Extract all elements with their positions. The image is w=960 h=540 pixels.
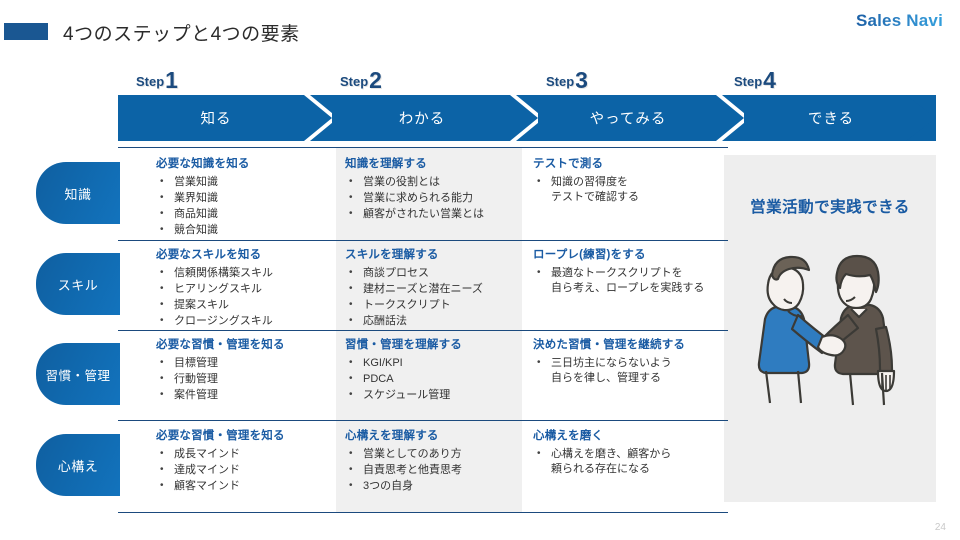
step-caption-word: Step [546, 74, 574, 89]
list-item: ヒアリングスキル [156, 282, 331, 297]
row-label-text: スキル [58, 275, 99, 294]
slide: 4つのステップと4つの要素 Sales Navi 知る わかる やってみる でき… [0, 0, 960, 540]
row-label-text: 習慣・管理 [45, 365, 110, 384]
list-item: 知識の習得度を テストで確認する [533, 175, 718, 205]
cell-heading: スキルを理解する [345, 246, 525, 262]
cell-skill-step1: 必要なスキルを知る 信頼関係構築スキル ヒアリングスキル 提案スキル クロージン… [156, 246, 331, 330]
list-item: 3つの自身 [345, 479, 525, 494]
list-item: トークスクリプト [345, 298, 525, 313]
row-label-skill[interactable]: スキル [36, 253, 120, 315]
list-item: KGI/KPI [345, 356, 525, 371]
cell-heading: 必要な習慣・管理を知る [156, 336, 331, 352]
list-item: 自責思考と他責思考 [345, 463, 525, 478]
cell-knowledge-step3: テストで測る 知識の習得度を テストで確認する [533, 155, 718, 206]
list-item: 営業としてのあり方 [345, 447, 525, 462]
list-item: 成長マインド [156, 447, 331, 462]
cell-list: 商談プロセス 建材ニーズと潜在ニーズ トークスクリプト 応酬話法 [345, 266, 525, 329]
row-label-mindset[interactable]: 心構え [36, 434, 120, 496]
cell-list: 営業知識 業界知識 商品知識 競合知識 [156, 175, 331, 238]
list-item: 建材ニーズと潜在ニーズ [345, 282, 525, 297]
step-caption-3: Step3 [546, 67, 588, 94]
step-caption-number: 3 [575, 67, 588, 93]
list-item: クロージングスキル [156, 314, 331, 329]
step-label-text: わかる [324, 108, 520, 129]
list-item: 営業の役割とは [345, 175, 525, 190]
step-caption-number: 1 [165, 67, 178, 93]
step-label-2[interactable]: わかる [324, 95, 520, 141]
cell-list: 営業の役割とは 営業に求められる能力 顧客がされたい営業とは [345, 175, 525, 222]
list-item: 心構えを磨き、顧客から 頼られる存在になる [533, 447, 723, 477]
list-item: 案件管理 [156, 388, 331, 403]
step-label-text: できる [736, 108, 926, 129]
cell-list: 知識の習得度を テストで確認する [533, 175, 718, 205]
list-item: 応酬話法 [345, 314, 525, 329]
cell-list: 最適なトークスクリプトを 自ら考え、ロープレを実践する [533, 266, 723, 296]
list-item: 業界知識 [156, 191, 331, 206]
list-item: 営業知識 [156, 175, 331, 190]
row-label-habit-management[interactable]: 習慣・管理 [36, 343, 120, 405]
outcome-panel-title: 営業活動で実践できる [724, 195, 936, 217]
content-matrix: 営業活動で実践できる [0, 147, 960, 517]
cell-list: 営業としてのあり方 自責思考と他責思考 3つの自身 [345, 447, 525, 494]
cell-heading: 知識を理解する [345, 155, 525, 171]
row-divider [118, 512, 728, 513]
row-label-text: 知識 [64, 184, 91, 203]
step-label-4[interactable]: できる [736, 95, 926, 141]
step-caption-word: Step [340, 74, 368, 89]
cell-list: 三日坊主にならないよう 自らを律し、管理する [533, 356, 723, 386]
cell-habit-step3: 決めた習慣・管理を継続する 三日坊主にならないよう 自らを律し、管理する [533, 336, 723, 387]
step-caption-number: 4 [763, 67, 776, 93]
step-caption-4: Step4 [734, 67, 776, 94]
row-divider [118, 147, 728, 148]
step-label-3[interactable]: やってみる [530, 95, 726, 141]
cell-heading: テストで測る [533, 155, 718, 171]
cell-heading: 決めた習慣・管理を継続する [533, 336, 723, 352]
list-item: 顧客マインド [156, 479, 331, 494]
list-item: 目標管理 [156, 356, 331, 371]
step-caption-number: 2 [369, 67, 382, 93]
cell-habit-step1: 必要な習慣・管理を知る 目標管理 行動管理 案件管理 [156, 336, 331, 404]
step-label-text: やってみる [530, 108, 726, 129]
row-label-knowledge[interactable]: 知識 [36, 162, 120, 224]
step-label-1[interactable]: 知る [118, 95, 314, 141]
cell-knowledge-step2: 知識を理解する 営業の役割とは 営業に求められる能力 顧客がされたい営業とは [345, 155, 525, 223]
row-divider [118, 240, 728, 241]
cell-mindset-step3: 心構えを磨く 心構えを磨き、顧客から 頼られる存在になる [533, 427, 723, 478]
list-item: 営業に求められる能力 [345, 191, 525, 206]
page-title: 4つのステップと4つの要素 [63, 19, 300, 46]
sales-navi-logo: Sales Navi [856, 11, 943, 31]
cell-list: 成長マインド 達成マインド 顧客マインド [156, 447, 331, 494]
page-number: 24 [935, 522, 946, 533]
cell-mindset-step1: 必要な習慣・管理を知る 成長マインド 達成マインド 顧客マインド [156, 427, 331, 495]
cell-skill-step2: スキルを理解する 商談プロセス 建材ニーズと潜在ニーズ トークスクリプト 応酬話… [345, 246, 525, 330]
list-item: 提案スキル [156, 298, 331, 313]
list-item: 最適なトークスクリプトを 自ら考え、ロープレを実践する [533, 266, 723, 296]
cell-heading: 必要な知識を知る [156, 155, 331, 171]
list-item: 行動管理 [156, 372, 331, 387]
step-caption-word: Step [734, 74, 762, 89]
list-item: PDCA [345, 372, 525, 387]
cell-list: 目標管理 行動管理 案件管理 [156, 356, 331, 403]
row-divider [118, 330, 728, 331]
list-item: 三日坊主にならないよう 自らを律し、管理する [533, 356, 723, 386]
step-caption-2: Step2 [340, 67, 382, 94]
step-arrow-band: 知る わかる やってみる できる Step1 Step2 Step3 Step4 [118, 95, 936, 141]
cell-list: 心構えを磨き、顧客から 頼られる存在になる [533, 447, 723, 477]
cell-heading: 必要な習慣・管理を知る [156, 427, 331, 443]
list-item: 商品知識 [156, 207, 331, 222]
list-item: 信頼関係構築スキル [156, 266, 331, 281]
cell-knowledge-step1: 必要な知識を知る 営業知識 業界知識 商品知識 競合知識 [156, 155, 331, 239]
cell-list: KGI/KPI PDCA スケジュール管理 [345, 356, 525, 403]
list-item: 達成マインド [156, 463, 331, 478]
list-item: 商談プロセス [345, 266, 525, 281]
cell-habit-step2: 習慣・管理を理解する KGI/KPI PDCA スケジュール管理 [345, 336, 525, 404]
cell-mindset-step2: 心構えを理解する 営業としてのあり方 自責思考と他責思考 3つの自身 [345, 427, 525, 495]
cell-heading: 必要なスキルを知る [156, 246, 331, 262]
cell-heading: ロープレ(練習)をする [533, 246, 723, 262]
title-accent-bar [4, 23, 48, 40]
list-item: スケジュール管理 [345, 388, 525, 403]
step-caption-1: Step1 [136, 67, 178, 94]
cell-heading: 心構えを理解する [345, 427, 525, 443]
step-label-text: 知る [118, 108, 314, 129]
handshake-illustration [738, 241, 928, 416]
list-item: 競合知識 [156, 223, 331, 238]
cell-skill-step3: ロープレ(練習)をする 最適なトークスクリプトを 自ら考え、ロープレを実践する [533, 246, 723, 297]
list-item: 顧客がされたい営業とは [345, 207, 525, 222]
row-label-text: 心構え [58, 456, 99, 475]
cell-heading: 習慣・管理を理解する [345, 336, 525, 352]
cell-list: 信頼関係構築スキル ヒアリングスキル 提案スキル クロージングスキル [156, 266, 331, 329]
step-caption-word: Step [136, 74, 164, 89]
row-divider [118, 420, 728, 421]
cell-heading: 心構えを磨く [533, 427, 723, 443]
